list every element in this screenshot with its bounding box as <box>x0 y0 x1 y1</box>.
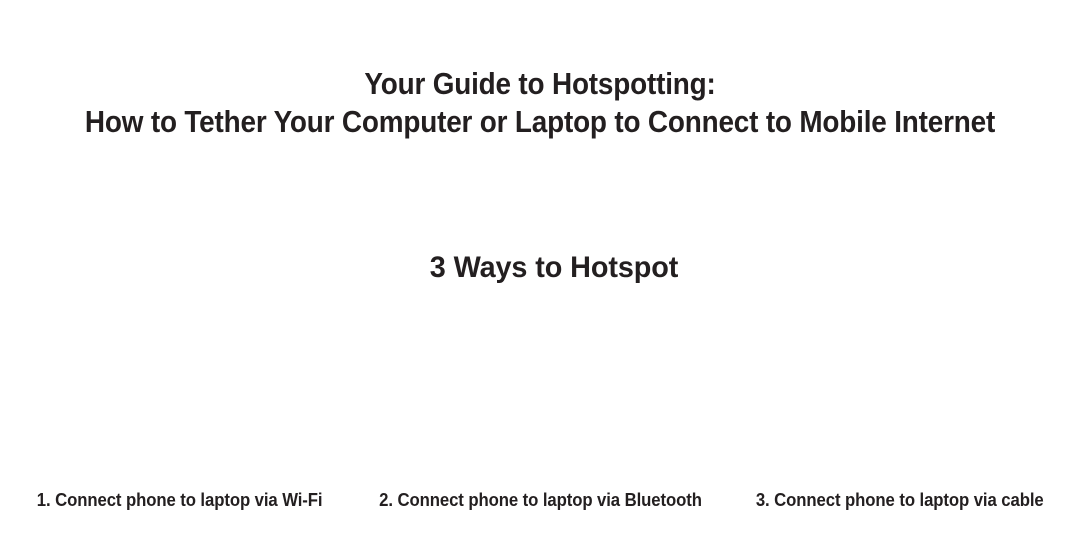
section-heading: 3 Ways to Hotspot <box>36 249 1073 287</box>
page-title-line-2: How to Tether Your Computer or Laptop to… <box>54 103 1026 141</box>
figure-caption-1-text: 1. Connect phone to laptop via Wi-Fi <box>37 487 323 513</box>
page-title-line-1: Your Guide to Hotspotting: <box>54 65 1026 103</box>
figure-row <box>0 285 1080 481</box>
article-page: Your Guide to Hotspotting: How to Tether… <box>0 0 1080 552</box>
caption-row: 1. Connect phone to laptop via Wi-Fi 2. … <box>0 487 1080 515</box>
figure-caption-1: 1. Connect phone to laptop via Wi-Fi <box>0 487 360 515</box>
figure-caption-3: 3. Connect phone to laptop via cable <box>720 487 1080 515</box>
figure-cell-3 <box>720 285 1080 481</box>
figure-image-3 <box>720 285 1080 481</box>
figure-cell-1 <box>0 285 360 481</box>
figure-caption-2: 2. Connect phone to laptop via Bluetooth <box>360 487 720 515</box>
figure-image-1 <box>0 285 360 481</box>
figure-cell-2 <box>360 285 720 481</box>
figure-caption-2-text: 2. Connect phone to laptop via Bluetooth <box>379 487 702 513</box>
page-title: Your Guide to Hotspotting: How to Tether… <box>0 65 1080 141</box>
figure-image-2 <box>360 285 720 481</box>
figure-caption-3-text: 3. Connect phone to laptop via cable <box>756 487 1044 513</box>
